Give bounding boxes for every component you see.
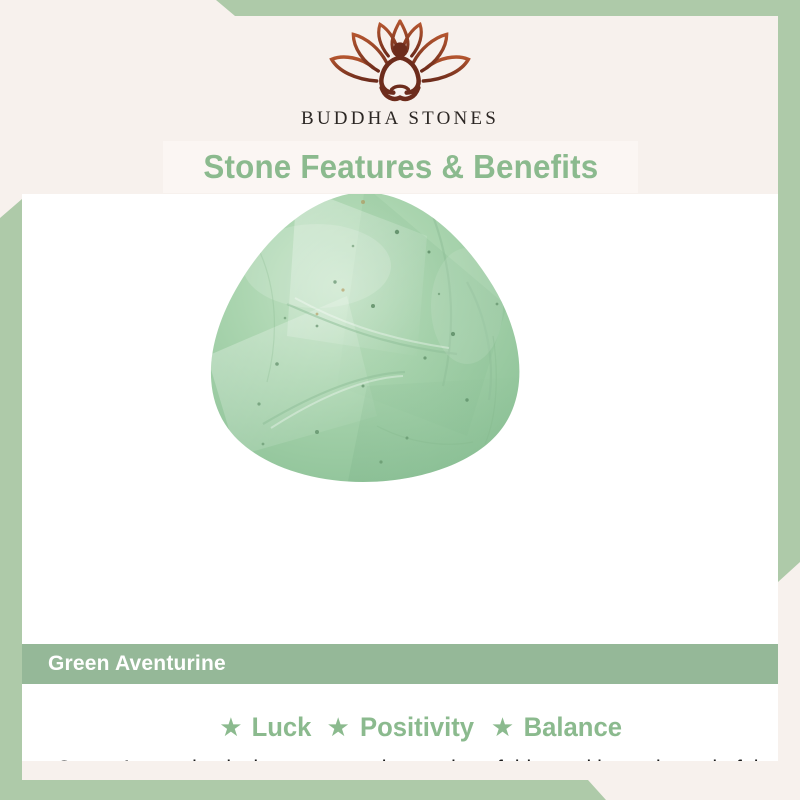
frame-top-band: [216, 0, 800, 16]
keyword-label: Balance: [524, 712, 622, 743]
star-icon: ★: [327, 714, 350, 740]
keyword-positivity: ★ Positivity: [327, 712, 477, 743]
stone-description: Green Aventurine is the most popular ver…: [56, 752, 778, 761]
stone-name-bar: Green Aventurine: [22, 644, 778, 684]
frame-left-bar: [0, 199, 22, 782]
infographic-page: BUDDHA STONES Stone Features & Benefits: [0, 0, 800, 800]
stone-name-label: Green Aventurine: [48, 652, 226, 676]
content-panel: Green Aventurine ★ Luck ★ Positivity ★ B…: [22, 194, 778, 761]
lotus-meditation-icon: [315, 16, 485, 106]
frame-bottom-band: [0, 780, 606, 800]
brand-name: BUDDHA STONES: [301, 108, 499, 130]
brand-header: BUDDHA STONES: [0, 16, 800, 141]
keyword-row: ★ Luck ★ Positivity ★ Balance: [22, 712, 778, 743]
stone-photo: [22, 194, 778, 489]
keyword-balance: ★ Balance: [491, 712, 625, 743]
keyword-label: Luck: [251, 712, 311, 743]
title-banner: Stone Features & Benefits: [163, 141, 638, 193]
star-icon: ★: [219, 714, 242, 740]
keyword-luck: ★ Luck: [219, 712, 312, 743]
page-title: Stone Features & Benefits: [203, 148, 598, 186]
green-aventurine-stone-image: [167, 194, 567, 489]
star-icon: ★: [491, 714, 514, 740]
keyword-label: Positivity: [360, 712, 474, 743]
